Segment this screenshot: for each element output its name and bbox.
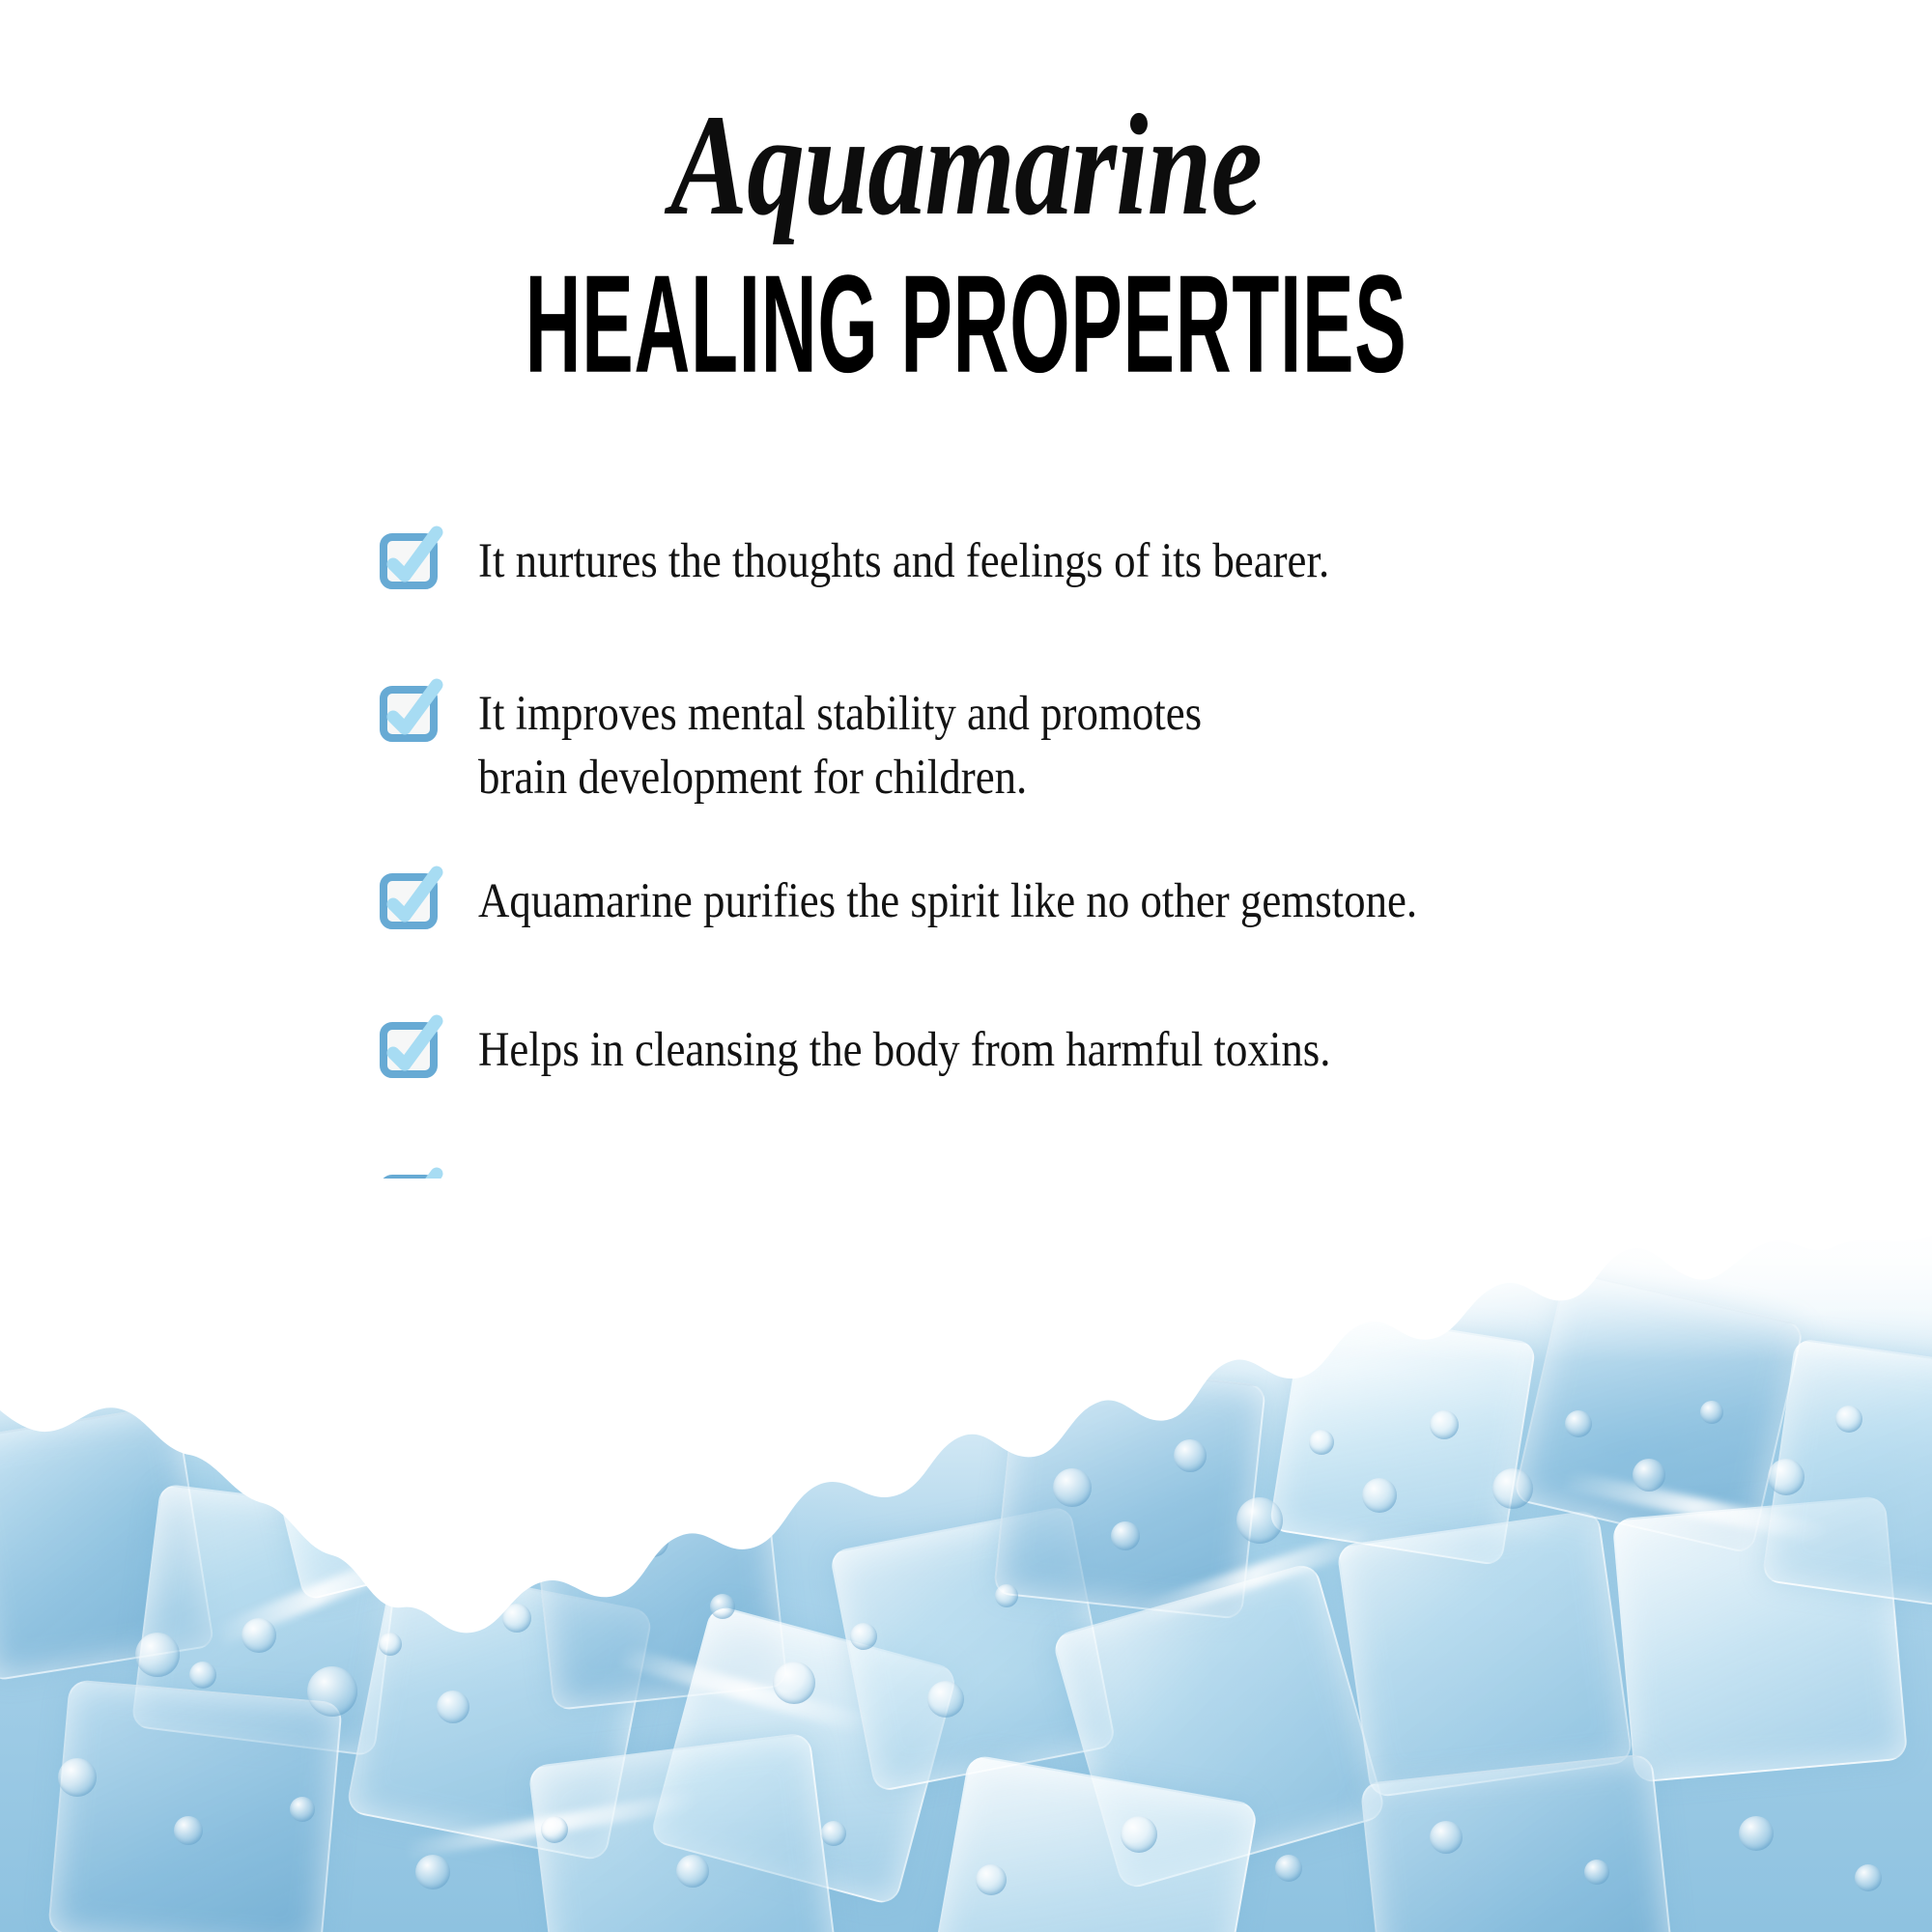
list-item-label: Aquamarine purifies the spirit like no o…	[478, 869, 1417, 933]
title-script-aquamarine: Aquamarine	[193, 93, 1739, 238]
list-item: Aquamarine purifies the spirit like no o…	[380, 869, 1780, 933]
page-title: Aquamarine HEALING PROPERTIES	[0, 93, 1932, 369]
aquamarine-healing-properties-poster: Aquamarine HEALING PROPERTIES It nurture…	[0, 0, 1932, 1932]
list-item-label: It improves mental stability and promote…	[478, 682, 1202, 810]
checkbox-checked-icon	[380, 684, 441, 746]
checkbox-checked-icon	[380, 871, 441, 933]
ice-top-fade	[0, 1179, 1932, 1362]
checkbox-checked-icon	[380, 531, 441, 593]
checkbox-checked-icon	[380, 1020, 441, 1082]
list-item-label: It nurtures the thoughts and feelings of…	[478, 529, 1329, 593]
healing-properties-list: It nurtures the thoughts and feelings of…	[380, 529, 1780, 1236]
list-item: Helps in cleansing the body from harmful…	[380, 1018, 1780, 1082]
list-item-label: Helps in cleansing the body from harmful…	[478, 1018, 1330, 1082]
list-item: It improves mental stability and promote…	[380, 682, 1780, 810]
title-healing-properties: HEALING PROPERTIES	[309, 255, 1623, 394]
list-item: It nurtures the thoughts and feelings of…	[380, 529, 1780, 593]
ice-cubes-photo	[0, 1179, 1932, 1932]
